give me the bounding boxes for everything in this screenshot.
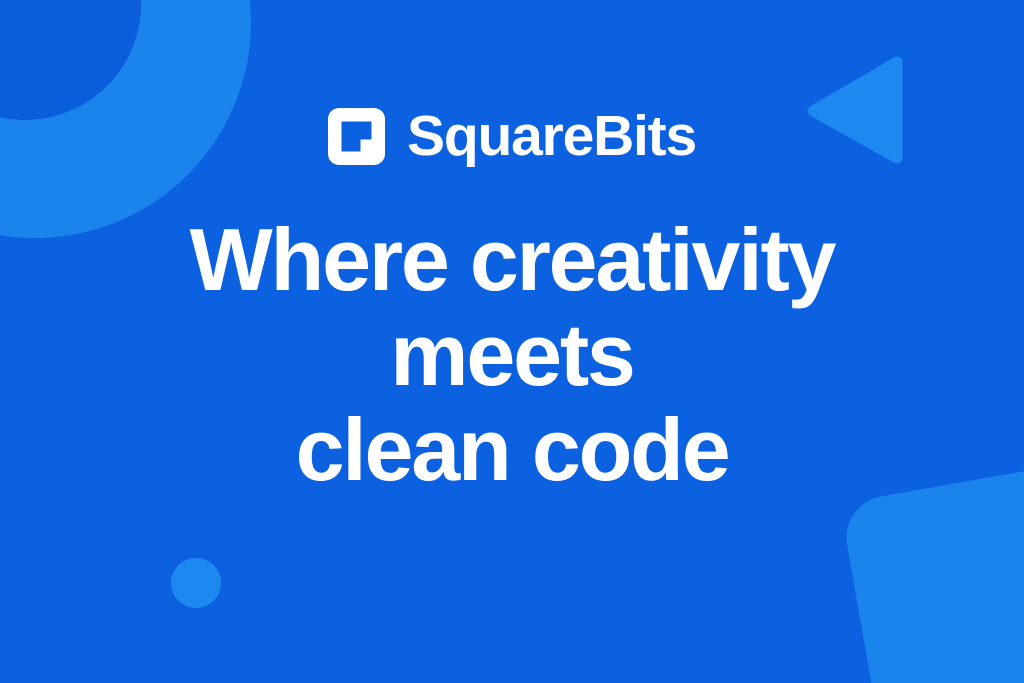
banner-content: SquareBits Where creativity meets clean …	[0, 0, 1024, 683]
brand-lockup: SquareBits	[328, 104, 696, 168]
headline-line-2: meets	[82, 307, 942, 402]
headline: Where creativity meets clean code	[82, 212, 942, 497]
brand-name: SquareBits	[407, 108, 696, 165]
squarebits-logo-icon	[328, 108, 385, 165]
headline-line-1: Where creativity	[82, 212, 942, 307]
promo-banner: SquareBits Where creativity meets clean …	[0, 0, 1024, 683]
headline-line-3: clean code	[82, 402, 942, 497]
